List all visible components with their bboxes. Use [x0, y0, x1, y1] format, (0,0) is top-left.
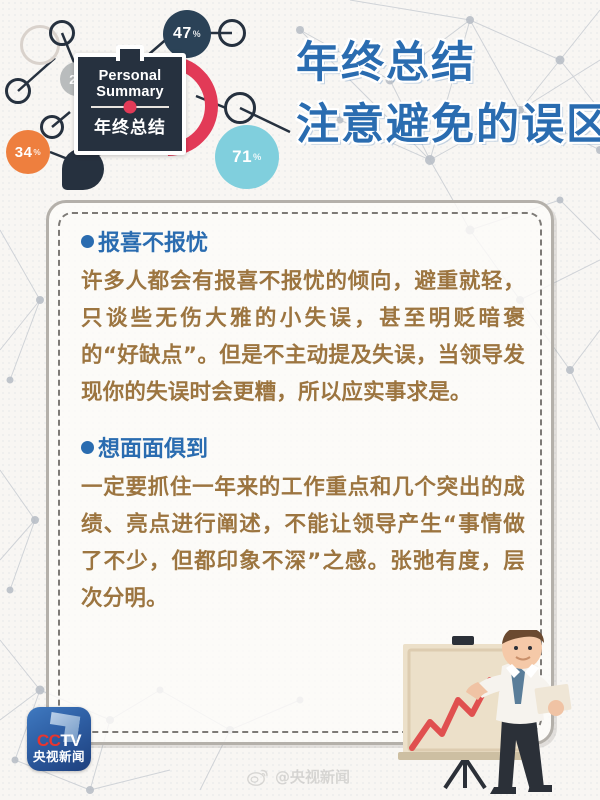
- section-2-heading-text: 想面面俱到: [98, 431, 208, 463]
- bullet-icon: [81, 235, 94, 248]
- badge-chinese: 年终总结: [94, 113, 166, 138]
- easel-legs: [445, 758, 485, 788]
- weibo-icon: [247, 768, 269, 786]
- clipboard-clip-icon: [116, 45, 144, 61]
- cctv-logo: CCTV 央视新闻: [27, 707, 91, 771]
- eye: [514, 646, 518, 650]
- hand-right: [548, 700, 564, 716]
- poster-page: 2 % 47 % 34 % 71 % Personal Summary 年终总结: [0, 0, 600, 800]
- weibo-watermark: @央视新闻: [247, 766, 350, 787]
- badge-divider: [91, 106, 169, 108]
- badge-english-line1: Personal: [96, 68, 164, 84]
- section-2: 想面面俱到 一定要抓住一年来的工作重点和几个突出的成绩、亮点进行阐述，不能让领导…: [81, 431, 525, 617]
- stat-unit: %: [193, 29, 201, 39]
- stat-value: 71: [232, 147, 252, 167]
- personal-summary-badge: Personal Summary 年终总结: [74, 45, 186, 155]
- section-1-body: 许多人都会有报喜不报忧的倾向，避重就轻，只谈些无伤大雅的小失误，甚至明贬暗褒的“…: [81, 263, 525, 411]
- header: 2 % 47 % 34 % 71 % Personal Summary 年终总结: [0, 0, 600, 200]
- deco-ring: [218, 19, 246, 47]
- board-tray: [398, 752, 538, 760]
- stat-circle-34: 34 %: [6, 130, 50, 174]
- badge-english: Personal Summary: [96, 68, 164, 100]
- section-2-heading: 想面面俱到: [81, 431, 525, 463]
- deco-ring: [5, 78, 31, 104]
- deco-ring: [40, 115, 64, 139]
- badge-english-line2: Summary: [96, 84, 164, 100]
- section-1-heading: 报喜不报忧: [81, 225, 525, 257]
- title-line-1: 年终总结: [296, 36, 596, 90]
- deco-ring: [224, 92, 256, 124]
- cctv-logo-english: CCTV: [37, 732, 81, 749]
- stat-unit: %: [253, 152, 262, 162]
- businessman-illustration: [390, 630, 600, 800]
- stat-unit: %: [33, 148, 41, 157]
- board-clip: [452, 636, 474, 645]
- trousers: [498, 718, 544, 790]
- stat-circle-71: 71 %: [215, 125, 279, 189]
- section-1-heading-text: 报喜不报忧: [98, 225, 208, 257]
- poster-title: 年终总结 注意避免的误区: [296, 36, 596, 152]
- card-content: 报喜不报忧 许多人都会有报喜不报忧的倾向，避重就轻，只谈些无伤大雅的小失误，甚至…: [81, 225, 525, 623]
- stat-value: 34: [15, 144, 33, 161]
- eye: [528, 646, 532, 650]
- bullet-icon: [81, 441, 94, 454]
- section-1: 报喜不报忧 许多人都会有报喜不报忧的倾向，避重就轻，只谈些无伤大雅的小失误，甚至…: [81, 225, 525, 411]
- title-line-2: 注意避免的误区: [296, 98, 596, 152]
- cctv-logo-chinese: 央视新闻: [33, 749, 85, 764]
- section-2-body: 一定要抓住一年来的工作重点和几个突出的成绩、亮点进行阐述，不能让领导产生“事情做…: [81, 469, 525, 617]
- stat-value: 47: [173, 25, 192, 43]
- deco-ring: [49, 20, 75, 46]
- badge-body: Personal Summary 年终总结: [74, 53, 186, 155]
- watermark-text: @央视新闻: [275, 766, 350, 787]
